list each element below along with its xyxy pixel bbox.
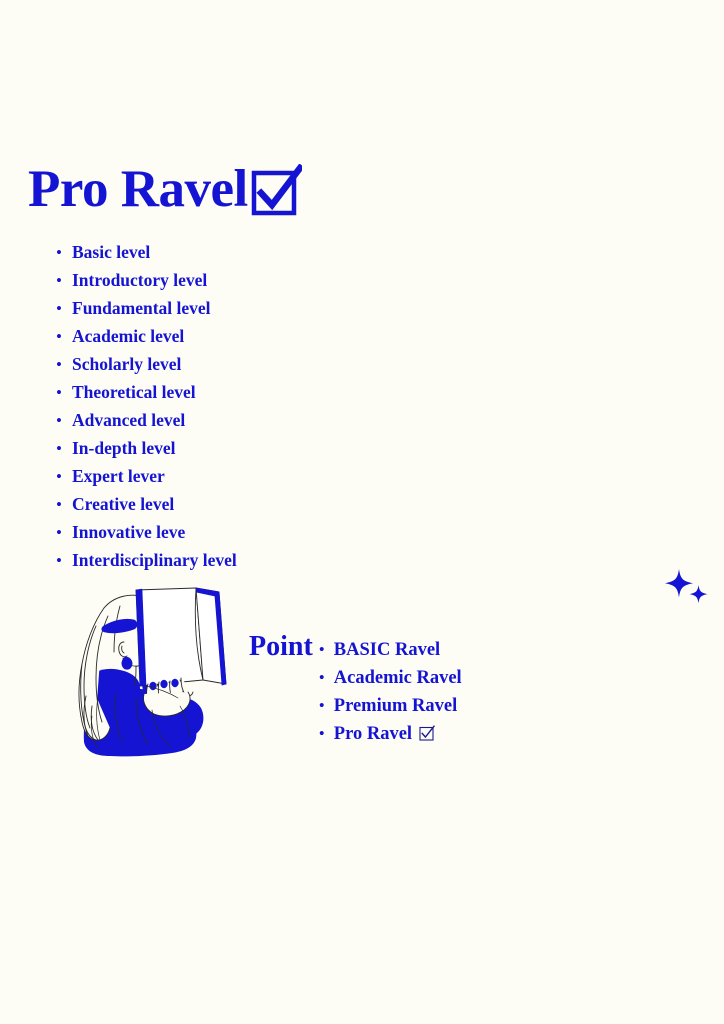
list-item-label: Innovative leve: [72, 518, 185, 546]
bullet-icon: •: [56, 323, 72, 351]
list-item[interactable]: • Creative level: [56, 490, 237, 518]
bullet-icon: •: [56, 435, 72, 463]
list-item[interactable]: • Academic level: [56, 322, 237, 350]
bullet-icon: •: [319, 636, 334, 664]
page-title-row: Pro Ravel: [28, 163, 302, 216]
list-item-label: Expert lever: [72, 462, 165, 490]
checkbox-checked-icon[interactable]: [250, 164, 302, 216]
bullet-icon: •: [56, 351, 72, 379]
bullet-icon: •: [56, 267, 72, 295]
list-item[interactable]: • Theoretical level: [56, 378, 237, 406]
list-item-label: Fundamental level: [72, 294, 211, 322]
list-item[interactable]: • Fundamental level: [56, 294, 237, 322]
list-item-label: Scholarly level: [72, 350, 181, 378]
list-item-label: Premium Ravel: [334, 692, 457, 720]
list-item[interactable]: • Introductory level: [56, 266, 237, 294]
point-section: Point • BASIC Ravel • Academic Ravel • P…: [249, 632, 462, 748]
bullet-icon: •: [56, 463, 72, 491]
list-item-label: Introductory level: [72, 266, 207, 294]
list-item-label: Interdisciplinary level: [72, 546, 237, 574]
bullet-icon: •: [56, 547, 72, 575]
list-item[interactable]: • Interdisciplinary level: [56, 546, 237, 574]
list-item[interactable]: • Scholarly level: [56, 350, 237, 378]
list-item-label: Academic Ravel: [334, 664, 462, 692]
list-item[interactable]: • BASIC Ravel: [319, 636, 462, 664]
sparkle-icon: [664, 569, 712, 609]
list-item[interactable]: • In-depth level: [56, 434, 237, 462]
list-item[interactable]: • Innovative leve: [56, 518, 237, 546]
checkbox-checked-icon[interactable]: [419, 723, 435, 739]
bullet-icon: •: [56, 519, 72, 547]
poster-canvas: Pro Ravel • Basic level • Introductory l…: [0, 0, 724, 1024]
bullet-icon: •: [56, 379, 72, 407]
list-item-label: Advanced level: [72, 406, 185, 434]
bullet-icon: •: [56, 407, 72, 435]
list-item-label: Pro Ravel: [334, 720, 412, 748]
list-item-label: BASIC Ravel: [334, 636, 440, 664]
list-item[interactable]: • Expert lever: [56, 462, 237, 490]
point-list: • BASIC Ravel • Academic Ravel • Premium…: [319, 636, 462, 748]
bullet-icon: •: [319, 692, 334, 720]
list-item[interactable]: • Academic Ravel: [319, 664, 462, 692]
person-reading-book-illustration: [36, 586, 231, 766]
list-item-label: Academic level: [72, 322, 184, 350]
bullet-icon: •: [56, 239, 72, 267]
bullet-icon: •: [319, 720, 334, 748]
list-item-label: Theoretical level: [72, 378, 196, 406]
list-item[interactable]: • Advanced level: [56, 406, 237, 434]
list-item-label: Creative level: [72, 490, 174, 518]
list-item-label: In-depth level: [72, 434, 176, 462]
list-item[interactable]: • Basic level: [56, 238, 237, 266]
point-label: Point: [249, 632, 313, 662]
bullet-icon: •: [56, 491, 72, 519]
levels-list: • Basic level • Introductory level • Fun…: [56, 238, 237, 574]
list-item-label: Basic level: [72, 238, 150, 266]
list-item[interactable]: • Premium Ravel: [319, 692, 462, 720]
bullet-icon: •: [319, 664, 334, 692]
page-title: Pro Ravel: [28, 163, 248, 216]
list-item[interactable]: • Pro Ravel: [319, 720, 462, 748]
bullet-icon: •: [56, 295, 72, 323]
